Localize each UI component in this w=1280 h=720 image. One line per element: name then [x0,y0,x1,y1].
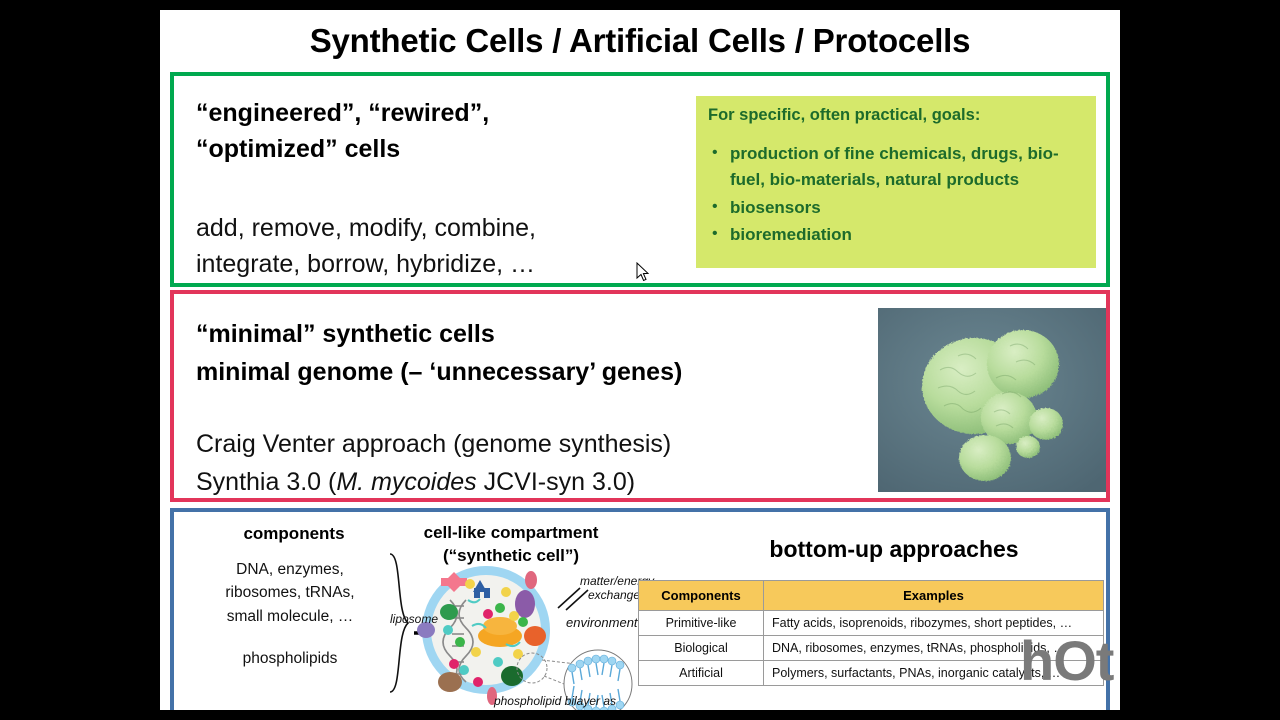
column-header-examples: Examples [764,581,1104,611]
label-bilayer-line-1: phospholipid bilayer as [460,694,650,708]
components-line-3: small molecule, … [190,605,390,628]
bullet-icon: • [708,222,730,247]
goal-text: bioremediation [730,222,852,248]
goals-title: For specific, often practical, goals: [708,106,1084,125]
panel-minimal-cells: “minimal” synthetic cells minimal genome… [170,290,1110,502]
goals-callout-box: For specific, often practical, goals: • … [696,96,1096,268]
panel-engineered-cells: “engineered”, “rewired”, “optimized” cel… [170,72,1110,287]
compartment-title-line-1: cell-like compartment [386,522,636,545]
page-title: Synthetic Cells / Artificial Cells / Pro… [160,22,1120,60]
double-slash-icon [554,586,590,612]
column-header-components: Components [639,581,764,611]
synthia-prefix: Synthia 3.0 ( [196,468,336,496]
cell-category: Artificial [639,661,764,686]
presentation-slide: Synthetic Cells / Artificial Cells / Pro… [160,10,1120,710]
table-header-row: Components Examples [639,581,1104,611]
components-title: components [204,524,384,544]
bottom-up-title: bottom-up approaches [694,536,1094,563]
minimal-body: Craig Venter approach (genome synthesis)… [196,426,896,501]
minimal-body-line-2: Synthia 3.0 (M. mycoides JCVI-syn 3.0) [196,464,896,502]
label-environment: environment [566,615,638,630]
compartment-title: cell-like compartment (“synthetic cell”) [386,522,636,568]
cell-category: Primitive-like [639,611,764,636]
video-player-frame: Synthetic Cells / Artificial Cells / Pro… [0,0,1280,720]
components-line-1: DNA, enzymes, [190,558,390,581]
minimal-heading: “minimal” synthetic cells minimal genome… [196,316,886,391]
mouse-pointer [636,262,650,282]
label-bilayer-line-2: semi-permeable membrane [460,708,650,710]
bullet-icon: • [708,141,730,166]
list-item: • production of fine chemicals, drugs, b… [708,141,1084,193]
cell-category: Biological [639,636,764,661]
goal-text: production of fine chemicals, drugs, bio… [730,141,1084,193]
engineered-heading-line-1: “engineered”, “rewired”, [196,96,666,132]
engineered-body: add, remove, modify, combine, integrate,… [196,210,676,283]
panel-bottom-up: components DNA, enzymes, ribosomes, tRNA… [170,508,1110,710]
goal-text: biosensors [730,195,821,221]
list-item: • biosensors [708,195,1084,221]
minimal-body-line-1: Craig Venter approach (genome synthesis) [196,426,896,464]
engineered-heading: “engineered”, “rewired”, “optimized” cel… [196,96,666,167]
synthia-suffix: JCVI-syn 3.0) [477,468,635,496]
engineered-heading-line-2: “optimized” cells [196,132,666,168]
minimal-heading-line-2: minimal genome (– ‘unnecessary’ genes) [196,354,886,392]
engineered-body-line-2: integrate, borrow, hybridize, … [196,246,676,282]
engineered-body-line-1: add, remove, modify, combine, [196,210,676,246]
list-item: • bioremediation [708,222,1084,248]
bullet-icon: • [708,195,730,220]
cell-micrograph-image [878,308,1106,492]
minimal-heading-line-1: “minimal” synthetic cells [196,316,886,354]
components-line-2: ribosomes, tRNAs, [190,581,390,604]
components-list: DNA, enzymes, ribosomes, tRNAs, small mo… [190,558,390,628]
cell-micrograph-svg [878,308,1106,492]
phospholipids-label: phospholipids [190,650,390,668]
inshot-watermark: hOt [1020,628,1113,693]
species-name: M. mycoides [336,468,476,496]
label-bilayer: phospholipid bilayer as semi-permeable m… [460,694,650,710]
label-liposome: liposome [390,612,438,626]
